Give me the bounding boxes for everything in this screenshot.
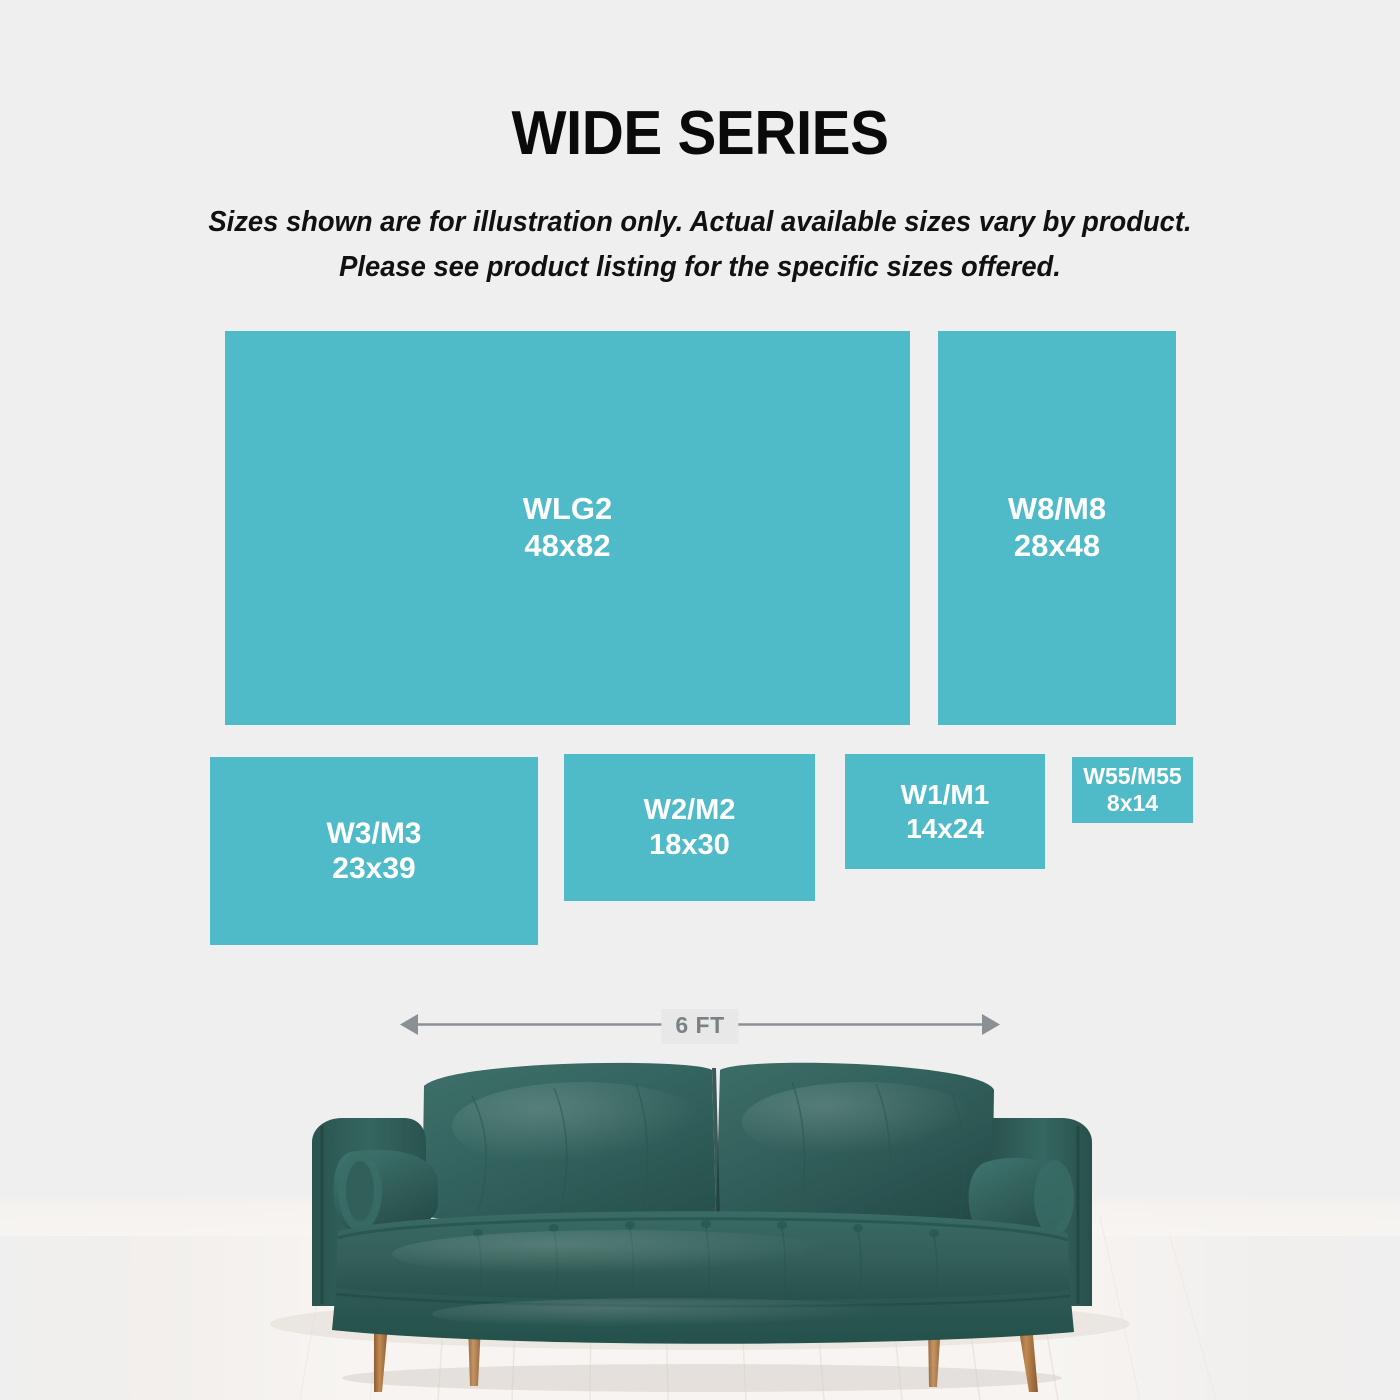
size-code: W2/M2 [644, 793, 736, 827]
scale-bar: 6 FT [396, 1005, 1004, 1047]
size-code: WLG2 [523, 491, 613, 528]
size-dimensions: 48x82 [524, 528, 610, 565]
subtitle-line-2: Please see product listing for the speci… [28, 245, 1372, 290]
size-code: W1/M1 [901, 778, 990, 811]
scale-label: 6 FT [661, 1009, 738, 1044]
subtitle-line-1: Sizes shown are for illustration only. A… [208, 206, 1191, 238]
page-title: WIDE SERIES [42, 98, 1358, 169]
size-swatch-w3-m3: W3/M3 23x39 [210, 757, 538, 945]
page-subtitle: Sizes shown are for illustration only. A… [28, 200, 1372, 290]
size-dimensions: 18x30 [649, 828, 730, 862]
size-swatch-w1-m1: W1/M1 14x24 [845, 754, 1045, 869]
size-swatch-w8-m8: W8/M8 28x48 [938, 331, 1176, 725]
size-dimensions: 28x48 [1014, 528, 1100, 565]
size-swatch-wlg2: WLG2 48x82 [225, 331, 910, 725]
size-code: W8/M8 [1008, 491, 1106, 528]
size-code: W3/M3 [326, 816, 421, 851]
size-comparison-diagram: WIDE SERIES Sizes shown are for illustra… [0, 0, 1400, 1400]
size-dimensions: 8x14 [1107, 790, 1158, 817]
size-dimensions: 14x24 [906, 812, 984, 845]
size-dimensions: 23x39 [332, 851, 415, 886]
sofa-icon [292, 1056, 1112, 1400]
size-swatch-w2-m2: W2/M2 18x30 [564, 754, 815, 901]
size-swatch-w55-m55: W55/M55 8x14 [1072, 757, 1193, 823]
sofa-illustration [292, 1056, 1112, 1400]
size-code: W55/M55 [1083, 763, 1181, 790]
